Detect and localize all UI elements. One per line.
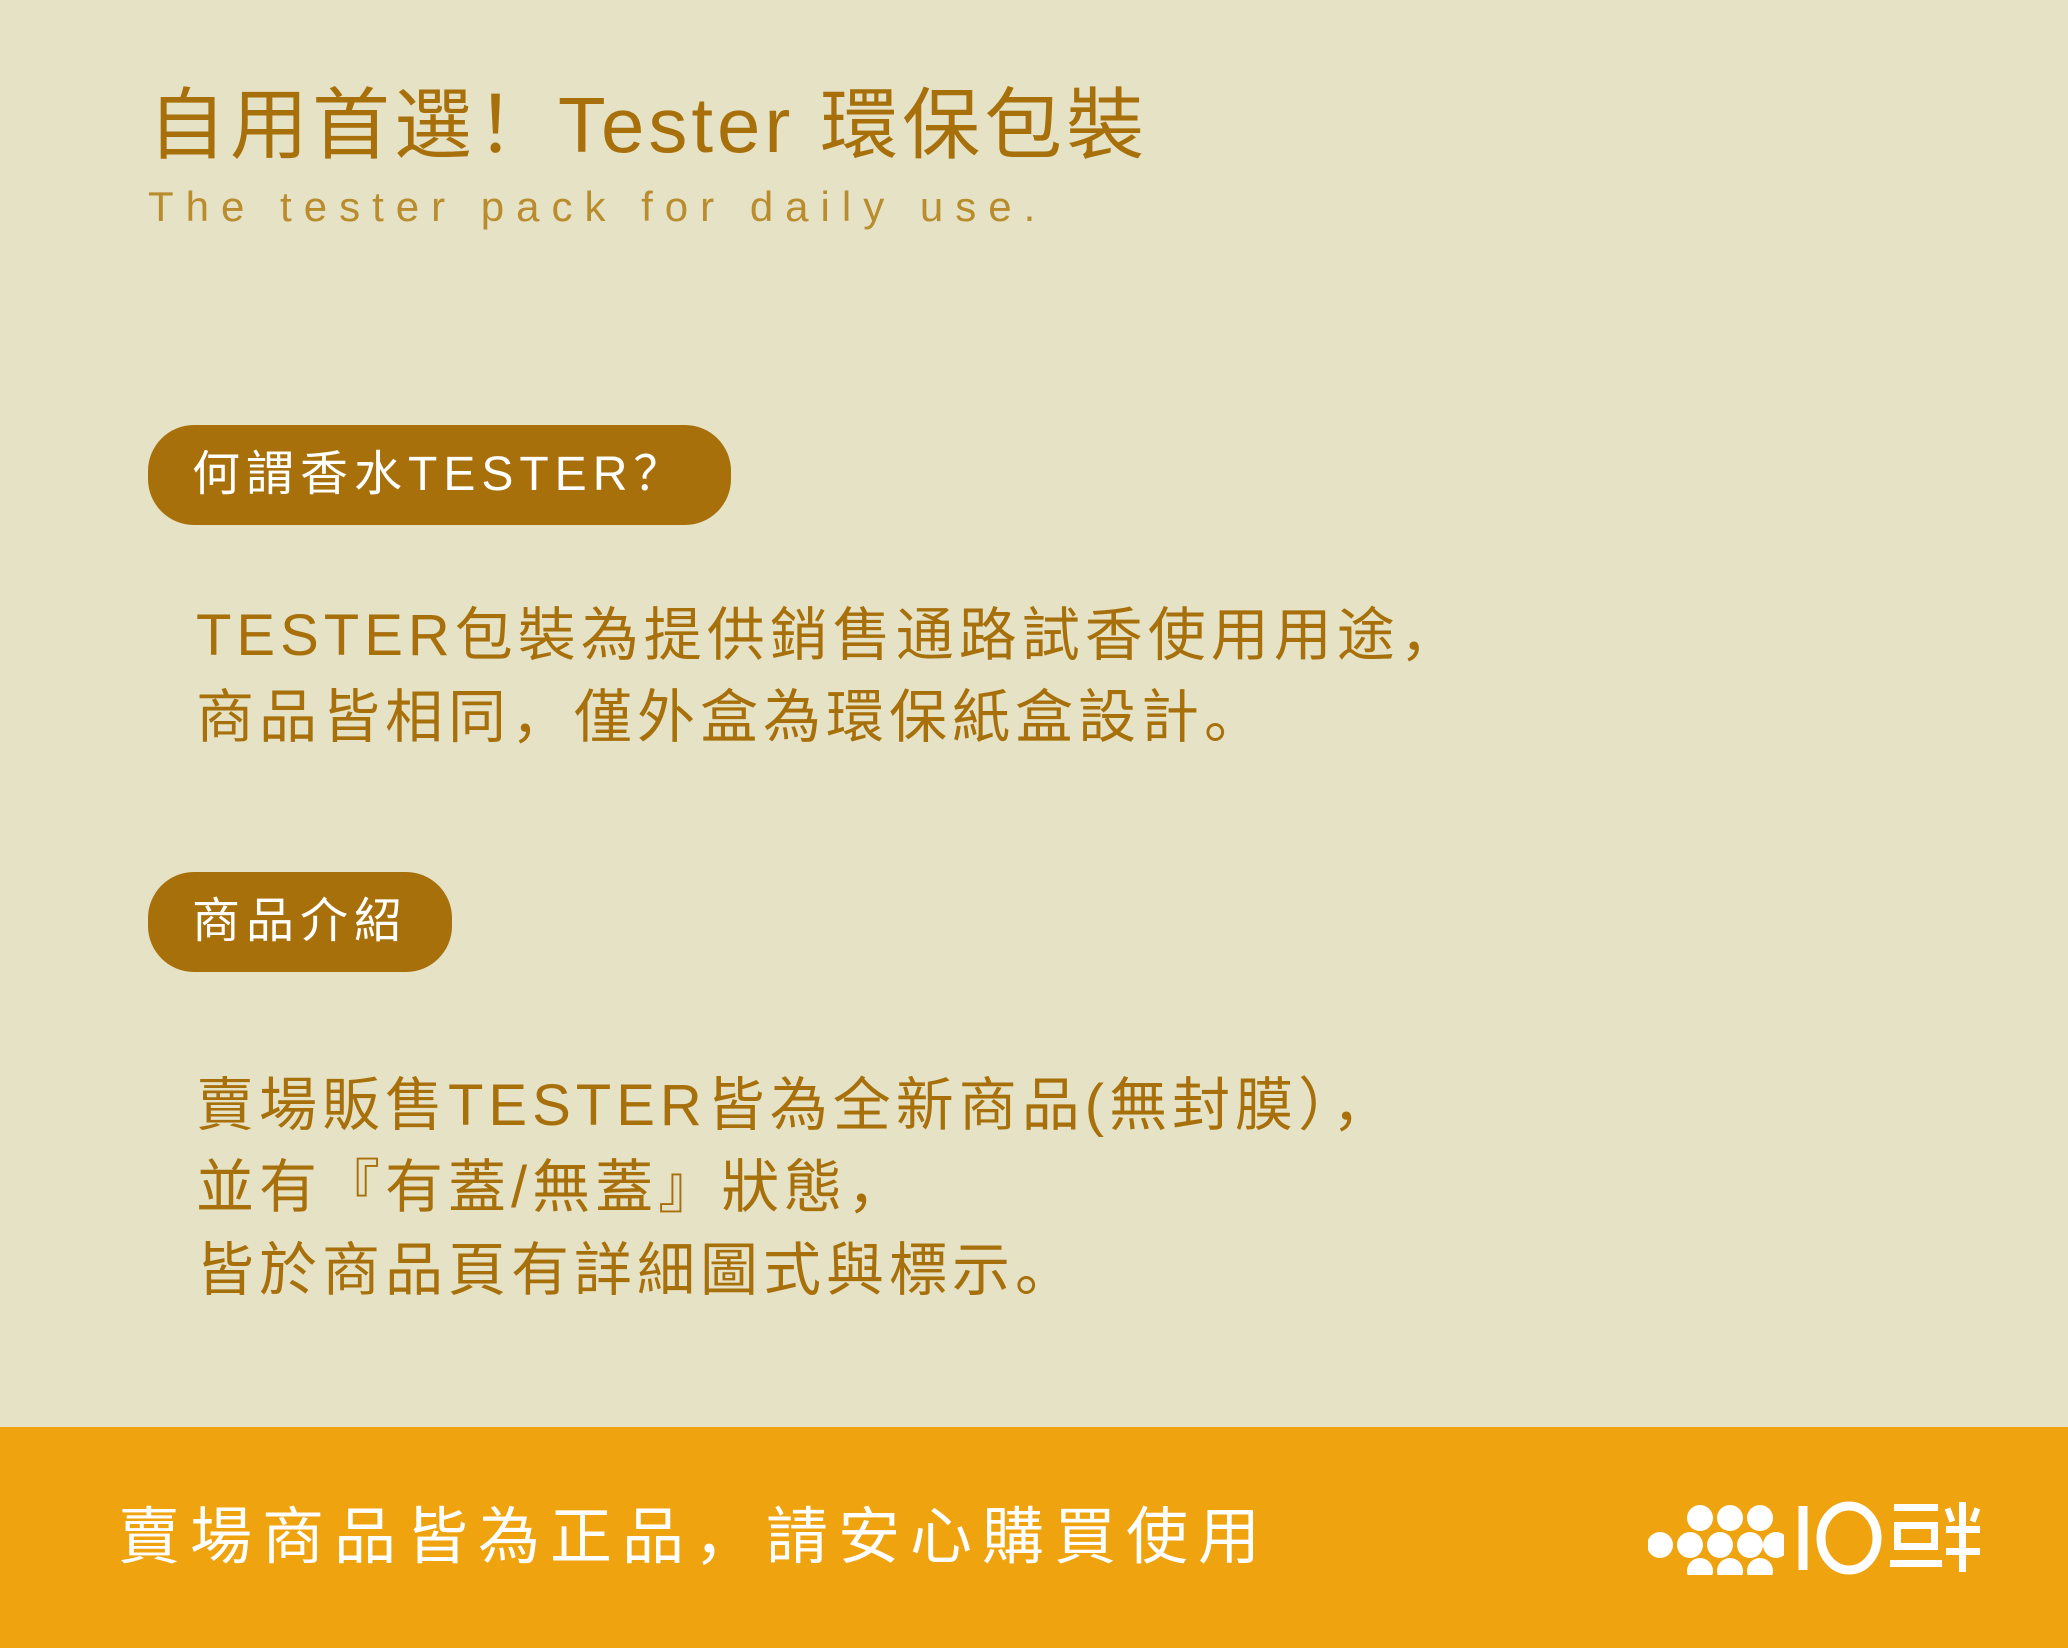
page-subtitle: The tester pack for daily use. bbox=[148, 186, 1148, 228]
section-body-what-is-tester: TESTER包裝為提供銷售通路試香使用用途， 商品皆相同，僅外盒為環保紙盒設計。 bbox=[196, 595, 1463, 760]
brand-logo bbox=[1648, 1500, 1980, 1576]
logo-dot-matrix-icon bbox=[1648, 1501, 1784, 1575]
page-title: 自用首選！Tester 環保包裝 bbox=[148, 86, 1148, 164]
logo-wordmark-10-dian-ban bbox=[1794, 1500, 1980, 1576]
section-badge-product-intro: 商品介紹 bbox=[148, 872, 452, 972]
header: 自用首選！Tester 環保包裝 The tester pack for dai… bbox=[148, 86, 1148, 228]
section-body-product-intro: 賣場販售TESTER皆為全新商品(無封膜）， 並有『有蓋/無蓋』狀態， 皆於商品… bbox=[196, 1065, 1395, 1312]
bottom-banner: 賣場商品皆為正品，請安心購買使用 bbox=[0, 1427, 2068, 1648]
section-badge-what-is-tester: 何謂香水TESTER？ bbox=[148, 425, 731, 525]
banner-message: 賣場商品皆為正品，請安心購買使用 bbox=[118, 1507, 1270, 1569]
